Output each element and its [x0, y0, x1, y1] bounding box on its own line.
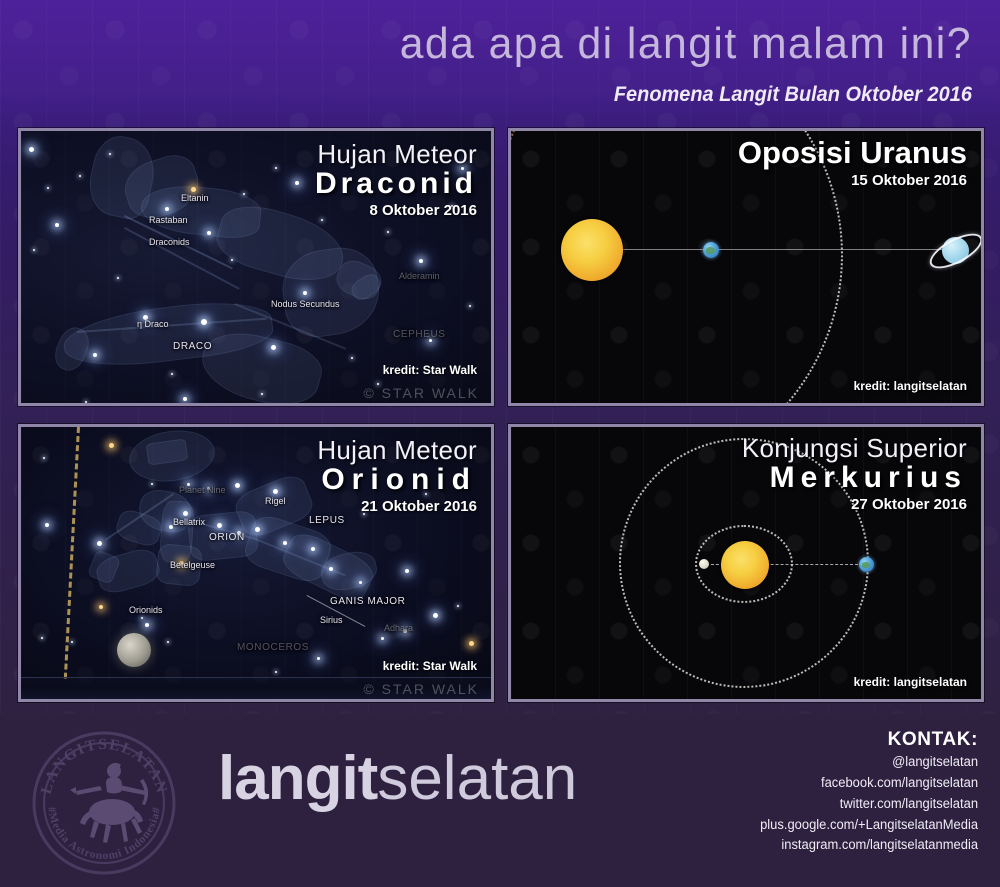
sky-label: Orionids [129, 605, 163, 615]
panel-title-merkurius: Konjungsi Superior Merkurius 27 Oktober … [742, 435, 967, 516]
centaur-archer-icon [70, 763, 148, 843]
earth [703, 242, 719, 258]
panel-title-line2: Orionid [317, 464, 477, 496]
panel-merkurius[interactable]: Konjungsi Superior Merkurius 27 Oktober … [508, 424, 984, 702]
sky-label: ORION [209, 532, 245, 543]
panel-title-orionid: Hujan Meteor Orionid 21 Oktober 2016 [317, 437, 477, 518]
star-chart-draconid: Eltanin Rastaban Draconids η Draco DRACO… [21, 131, 491, 403]
panel-title-line1: Hujan Meteor [315, 141, 477, 168]
panel-orionid[interactable]: Planet Nine Rigel Bellatrix ORION LEPUS … [18, 424, 494, 702]
logo-top-text: LANGITSELATAN [38, 736, 171, 796]
panel-title-line2: Draconid [315, 168, 477, 200]
sky-label: η Draco [137, 319, 169, 329]
contact-instagram[interactable]: instagram.com/langitselatanmedia [760, 835, 978, 856]
sun [561, 219, 623, 281]
langitselatan-logo[interactable]: LANGITSELATAN #Media Astronomi Indonesia… [28, 727, 180, 879]
contact-facebook[interactable]: facebook.com/langitselatan [760, 773, 978, 794]
mercury [699, 559, 709, 569]
sky-label: Adhara [384, 623, 413, 633]
page-title: ada apa di langit malam ini? [400, 22, 972, 66]
panel-credit: kredit: langitselatan [854, 379, 967, 393]
panel-date: 21 Oktober 2016 [317, 496, 477, 519]
sky-label: Alderamin [399, 271, 440, 281]
orbit-diagram-uranus: Oposisi Uranus 15 Oktober 2016 kredit: l… [511, 131, 981, 403]
sky-label: Rastaban [149, 215, 188, 225]
orbit-diagram-merkurius: Konjungsi Superior Merkurius 27 Oktober … [511, 427, 981, 699]
panel-title-uranus: Oposisi Uranus 15 Oktober 2016 [738, 137, 967, 192]
contact-googleplus[interactable]: plus.google.com/+LangitselatanMedia [760, 815, 978, 836]
panel-title-line1: Konjungsi Superior [742, 435, 967, 462]
starwalk-watermark: © STAR WALK [363, 681, 479, 697]
panel-credit: kredit: langitselatan [854, 675, 967, 689]
sky-label: DRACO [173, 341, 212, 352]
panel-uranus[interactable]: Oposisi Uranus 15 Oktober 2016 kredit: l… [508, 128, 984, 406]
sky-label: Eltanin [181, 193, 209, 203]
sky-label: CEPHEUS [393, 329, 446, 340]
sky-label: Betelgeuse [170, 560, 215, 570]
sky-label: Bellatrix [173, 517, 205, 527]
wordmark-light: selatan [377, 744, 577, 813]
starwalk-watermark: © STAR WALK [363, 385, 479, 401]
panel-title-line2: Merkurius [742, 462, 967, 494]
sky-label: Sirius [320, 615, 343, 625]
star-chart-orionid: Planet Nine Rigel Bellatrix ORION LEPUS … [21, 427, 491, 699]
sun [721, 541, 769, 589]
contact-title: KONTAK: [751, 728, 978, 752]
sky-label: Draconids [149, 237, 190, 247]
contact-block: KONTAK: @langitselatan facebook.com/lang… [751, 728, 978, 856]
header: ada apa di langit malam ini? Fenomena La… [0, 0, 1000, 120]
earth [859, 557, 874, 572]
panel-date: 27 Oktober 2016 [742, 494, 967, 517]
sky-label: MONOCEROS [237, 642, 309, 653]
panel-credit: kredit: Star Walk [383, 363, 477, 377]
sky-label: Rigel [265, 496, 286, 506]
panel-title-line1: Oposisi Uranus [738, 137, 967, 170]
moon [117, 633, 151, 667]
panel-credit: kredit: Star Walk [383, 659, 477, 673]
sightline [599, 249, 959, 250]
panel-date: 15 Oktober 2016 [738, 170, 967, 193]
panel-draconid[interactable]: Eltanin Rastaban Draconids η Draco DRACO… [18, 128, 494, 406]
page-subtitle: Fenomena Langit Bulan Oktober 2016 [614, 84, 972, 105]
contact-instagram-handle[interactable]: @langitselatan [760, 752, 978, 773]
contact-twitter[interactable]: twitter.com/langitselatan [760, 794, 978, 815]
sky-label: Nodus Secundus [271, 299, 340, 309]
panel-title-draconid: Hujan Meteor Draconid 8 Oktober 2016 [315, 141, 477, 222]
panel-title-line1: Hujan Meteor [317, 437, 477, 464]
sky-label: Planet Nine [179, 485, 226, 495]
sky-label: GANIS MAJOR [330, 596, 406, 607]
wordmark-bold: langit [218, 744, 377, 813]
infographic-poster: ada apa di langit malam ini? Fenomena La… [0, 0, 1000, 887]
langitselatan-wordmark: langitselatan [218, 748, 577, 810]
panel-date: 8 Oktober 2016 [315, 200, 477, 223]
